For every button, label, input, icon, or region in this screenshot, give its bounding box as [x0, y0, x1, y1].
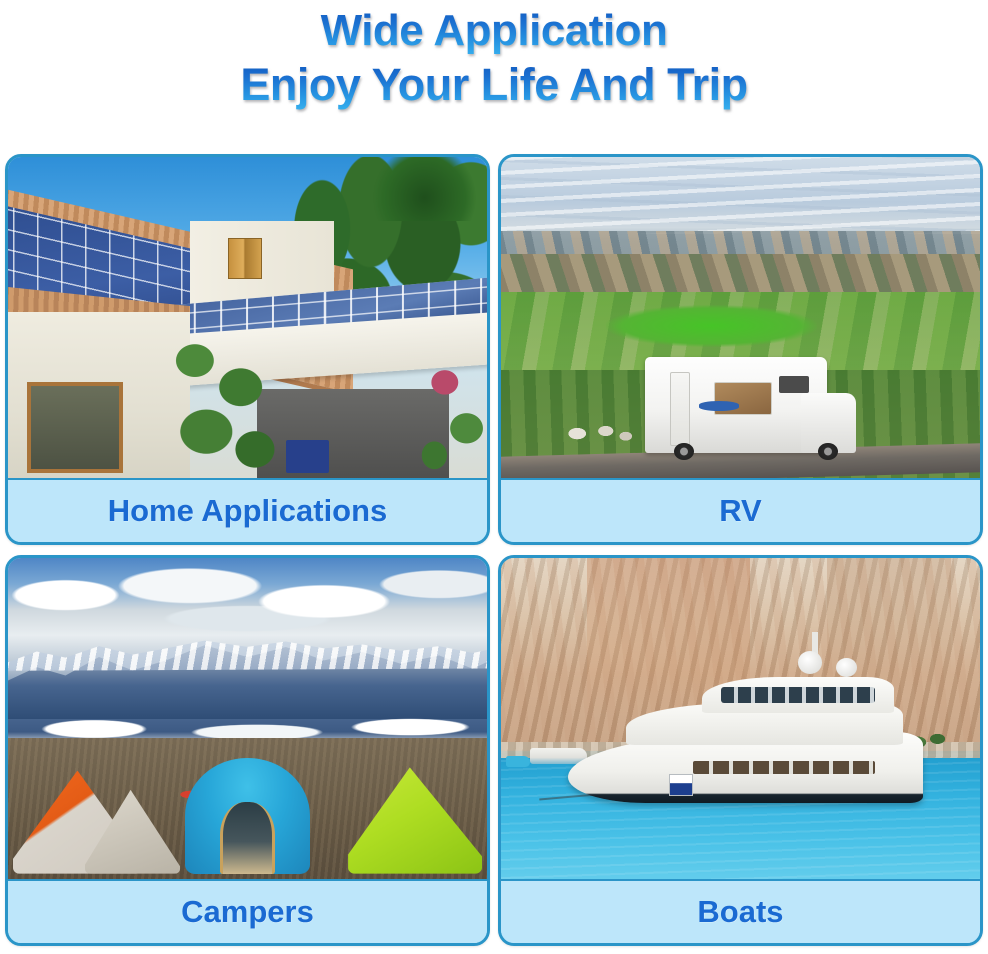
- foreground-bush-shape: [152, 331, 296, 479]
- application-card-boats[interactable]: Boats: [498, 555, 983, 946]
- cloud-streaks-shape: [501, 157, 980, 234]
- mountain-campsite-illustration: [8, 558, 487, 880]
- home-applications-photo: [8, 157, 487, 479]
- rv-valley-illustration: [501, 157, 980, 479]
- small-dinghy-shape: [506, 756, 530, 767]
- application-card-home-applications[interactable]: Home Applications: [5, 154, 490, 545]
- card-label-boats: Boats: [501, 879, 980, 943]
- page-title-line-1: Wide Application: [0, 4, 988, 58]
- solar-house-illustration: [8, 157, 487, 479]
- cloud-band-shape: [8, 564, 487, 641]
- roadside-rocks-shape: [558, 418, 635, 444]
- blue-tent-doorway: [220, 802, 275, 874]
- yacht-bridge-windows: [721, 687, 874, 703]
- wide-application-banner: Wide Application Enjoy Your Life And Tri…: [0, 0, 988, 954]
- yacht-radome-shape: [798, 651, 822, 674]
- yacht-hull-windows: [693, 761, 875, 774]
- bright-green-field-shape: [606, 305, 817, 347]
- boats-photo: [501, 558, 980, 880]
- page-title: Wide Application Enjoy Your Life And Tri…: [0, 4, 988, 112]
- application-card-rv[interactable]: RV: [498, 154, 983, 545]
- blue-tent-shape: [185, 758, 310, 874]
- motorhome-rear-window: [779, 376, 808, 393]
- rv-photo: [501, 157, 980, 479]
- application-card-grid: Home Applications: [5, 154, 983, 946]
- campers-photo: [8, 558, 487, 880]
- patio-door-shape: [27, 382, 123, 472]
- card-label-home-applications: Home Applications: [8, 478, 487, 542]
- motorhome-rear-wheel: [674, 443, 694, 460]
- page-title-line-2: Enjoy Your Life And Trip: [0, 58, 988, 112]
- yacht-bow-marking: [669, 774, 693, 797]
- application-card-campers[interactable]: Campers: [5, 555, 490, 946]
- yacht-cliff-illustration: [501, 558, 980, 880]
- flower-bed-shape: [410, 350, 487, 479]
- motorhome-door: [670, 372, 690, 445]
- card-label-campers: Campers: [8, 879, 487, 943]
- window-shutter-shape: [228, 238, 262, 280]
- card-label-rv: RV: [501, 478, 980, 542]
- tree-top-shape: [372, 157, 477, 221]
- motorhome-decal: [699, 401, 739, 411]
- motorhome-body: [645, 357, 827, 454]
- motorhome-front-wheel: [818, 443, 838, 460]
